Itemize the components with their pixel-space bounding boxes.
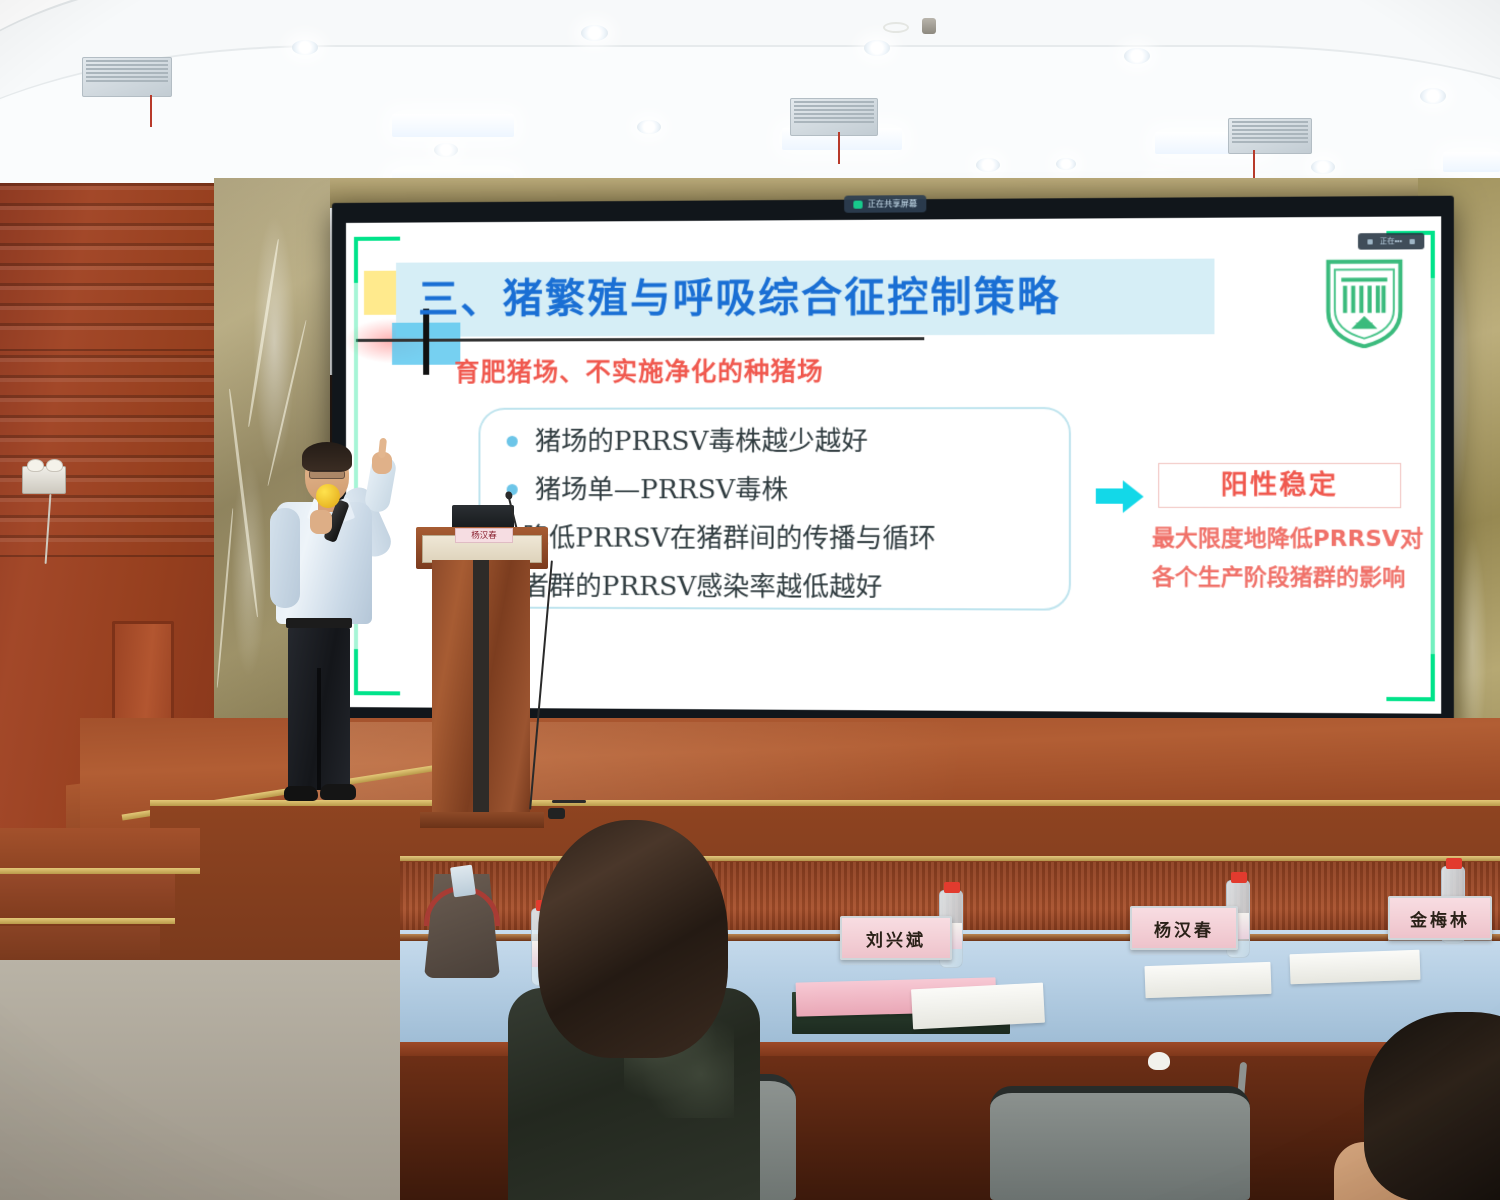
share-border-right xyxy=(1431,278,1435,654)
audience-chair xyxy=(990,1086,1250,1200)
white-document xyxy=(1290,950,1421,985)
speaker-glasses xyxy=(309,470,345,479)
downlight xyxy=(292,40,318,55)
vent-streamer xyxy=(150,95,152,127)
nameplate: 杨汉春 xyxy=(1130,906,1238,950)
panel-light xyxy=(392,114,514,137)
podium-base xyxy=(420,812,544,828)
slide-bullet: 猪场的PRRSV毒株越少越好 xyxy=(535,420,868,458)
downlight xyxy=(581,25,608,41)
stage-step-trim xyxy=(0,918,175,924)
bottle-cap xyxy=(944,882,960,893)
slide-subtitle: 育肥猪场、不实施净化的种猪场 xyxy=(454,352,823,389)
speaker-belt xyxy=(286,618,352,628)
downlight xyxy=(1056,158,1076,170)
ceiling-air-vent xyxy=(790,98,878,136)
china-agricultural-university-crest-icon: 1905 xyxy=(1323,254,1405,349)
downlight xyxy=(1311,160,1335,174)
meeting-phone-icon xyxy=(1410,239,1415,244)
ceiling-speaker xyxy=(883,22,909,33)
white-document xyxy=(1144,962,1271,998)
downlight xyxy=(864,40,890,56)
nameplate: 刘兴斌 xyxy=(840,916,952,960)
screen-share-icon xyxy=(853,200,862,208)
bullet-marker xyxy=(507,436,518,447)
callout-line: 各个生产阶段猪群的影响 xyxy=(1152,559,1405,592)
ceiling-air-vent xyxy=(82,57,172,97)
screen-share-indicator: 正在共享屏幕 xyxy=(844,195,926,213)
bottle-cap xyxy=(1446,858,1462,869)
ceiling-air-vent xyxy=(1228,118,1312,154)
speaker-left-arm xyxy=(270,508,300,608)
downlight xyxy=(434,143,458,157)
callout-line: 最大限度地降低PRRSV对 xyxy=(1152,520,1423,553)
speaker-hand-holding-mic xyxy=(310,510,332,534)
downlight xyxy=(1420,88,1446,104)
callout-heading: 阳性稳定 xyxy=(1158,463,1401,508)
vent-streamer xyxy=(838,132,840,164)
stage-gold-trim xyxy=(150,800,1500,806)
conference-hall-photo: 正在共享屏幕 三、猪繁殖与呼吸综合征控制策略 育肥猪场、不实施净化的种猪场 猪场… xyxy=(0,0,1500,1200)
speaker-hair xyxy=(302,442,352,472)
svg-text:1905: 1905 xyxy=(1355,320,1374,329)
decor-horizontal-rule xyxy=(356,337,924,342)
smoke-detector xyxy=(922,18,936,34)
speaker-shoe xyxy=(320,784,356,800)
downlight xyxy=(976,158,1000,172)
downlight xyxy=(637,120,661,134)
bottle-cap xyxy=(1231,872,1247,883)
tissue xyxy=(1148,1052,1170,1070)
slide-bullet: 者群的PRRSV感染率越低越好 xyxy=(523,565,883,603)
meeting-toolbar[interactable]: 正在••• xyxy=(1358,233,1425,250)
white-document xyxy=(911,983,1045,1030)
speaker-shoe xyxy=(284,786,318,801)
microphone-head-icon xyxy=(316,484,340,508)
nameplate: 金梅林 xyxy=(1388,896,1492,940)
podium-center-stripe xyxy=(473,560,489,822)
slide-bullet: 猪场单—PRRSV毒株 xyxy=(535,469,788,506)
handbag-tag xyxy=(450,865,476,898)
downlight xyxy=(1124,48,1150,64)
emergency-light xyxy=(22,466,66,494)
podium-name-card: 杨汉春 xyxy=(455,528,513,543)
screen-share-label: 正在共享屏幕 xyxy=(868,198,917,209)
speaker-leg-gap xyxy=(317,668,321,790)
panel-light xyxy=(1443,152,1500,172)
floor-cable xyxy=(552,800,586,803)
meeting-toolbar-label: 正在••• xyxy=(1380,236,1402,246)
slide-title: 三、猪繁殖与呼吸综合征控制策略 xyxy=(418,265,1227,331)
cable-plug xyxy=(548,808,565,819)
slide-bullet: 降低PRRSV在猪群间的传播与循环 xyxy=(523,517,936,555)
audience-member-head xyxy=(538,820,728,1058)
meeting-menu-icon xyxy=(1367,239,1372,244)
floor-carpet xyxy=(0,960,440,1200)
